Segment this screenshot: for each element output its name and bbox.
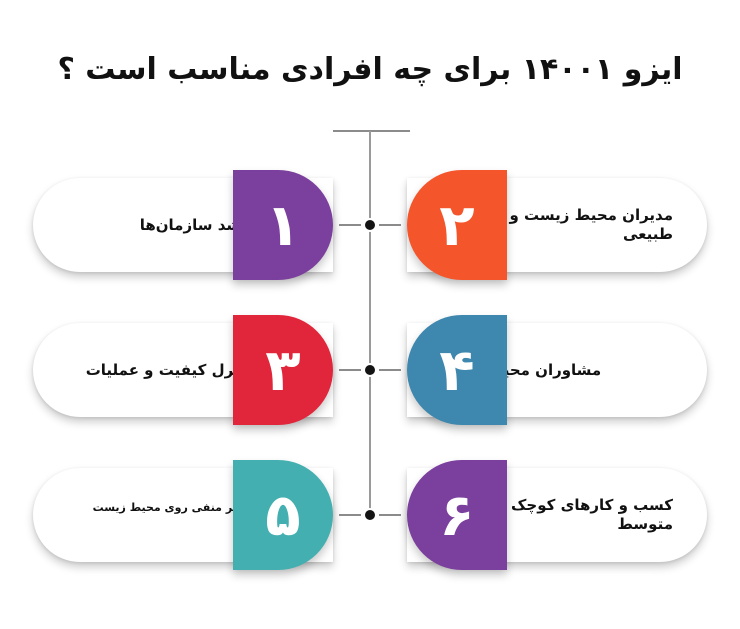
item-number-1: ۱ — [265, 196, 300, 254]
connector-spoke-right — [379, 514, 401, 516]
connector-spoke-left — [339, 224, 361, 226]
item-number-badge-4[interactable]: ۴ — [407, 315, 507, 425]
item-number-4: ۴ — [439, 341, 474, 399]
item-number-3: ۳ — [265, 341, 300, 399]
item-number-badge-6[interactable]: ۶ — [407, 460, 507, 570]
page-title: ایزو ۱۴۰۰۱ برای چه افرادی مناسب است ؟ — [0, 52, 740, 88]
item-number-badge-2[interactable]: ۲ — [407, 170, 507, 280]
item-number-5: ۵ — [265, 486, 300, 544]
connector-junction-dot — [363, 363, 377, 377]
connector-junction-dot — [363, 218, 377, 232]
item-number-6: ۶ — [439, 486, 474, 544]
connector-spoke-left — [339, 369, 361, 371]
item-number-2: ۲ — [439, 196, 474, 254]
infographic-canvas: ایزو ۱۴۰۰۱ برای چه افرادی مناسب است ؟ مد… — [0, 0, 740, 629]
connector-spoke-left — [339, 514, 361, 516]
connector-spoke-right — [379, 369, 401, 371]
connector-junction-dot — [363, 508, 377, 522]
connector-spoke-right — [379, 224, 401, 226]
connector-top-bar — [333, 130, 410, 132]
